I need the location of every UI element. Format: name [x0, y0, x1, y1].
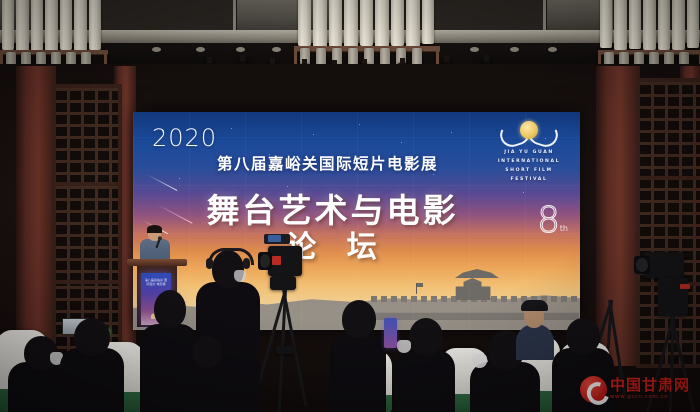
festival-logo-line2: INTERNATIONAL	[492, 159, 566, 164]
video-camera-tripod-center	[254, 238, 334, 412]
audience-head	[192, 336, 222, 368]
sun-icon	[520, 121, 538, 139]
chinese-lattice-panel	[52, 84, 122, 188]
ceiling-light-dot	[236, 47, 245, 52]
edition-suffix: th	[560, 224, 568, 233]
fortress-flag	[416, 283, 417, 294]
conference-hall-photo: 2020 第八届嘉峪关国际短片电影展 舞台艺术与电影 论 坛 JIA YU GU…	[0, 0, 700, 412]
face-mask	[397, 340, 411, 353]
floor-monitor-screen	[384, 318, 397, 348]
festival-logo-line3: SHORT FILM	[492, 168, 566, 173]
headphone-cup	[206, 258, 213, 269]
audience-member	[60, 318, 124, 412]
headphone-cup	[243, 258, 250, 269]
audience-head	[74, 318, 110, 356]
camera-indicator	[680, 284, 690, 289]
audience-head	[409, 318, 443, 356]
screen-year: 2020	[152, 124, 217, 152]
attendee-torso	[516, 324, 554, 360]
camera-lens	[634, 256, 650, 274]
camera-mount	[270, 276, 296, 290]
audience-head	[154, 290, 186, 328]
camera-body	[644, 252, 684, 278]
camera-lens	[258, 252, 272, 270]
ceiling-light-dot	[272, 47, 281, 52]
festival-logo-line4: FESTIVAL	[492, 177, 566, 182]
ceiling-light-dot	[510, 47, 519, 52]
ceiling-light-dot	[152, 47, 161, 52]
festival-logo: JIA YU GUAN INTERNATIONAL SHORT FILM FES…	[492, 120, 566, 182]
audience-member	[395, 318, 455, 412]
edition-number: 8	[537, 200, 560, 241]
ceiling-light-dot	[470, 47, 479, 52]
wall-column-left	[16, 66, 56, 366]
cap-icon	[521, 300, 548, 311]
chinese-lattice-panel	[52, 182, 122, 286]
camera-monitor	[268, 235, 281, 242]
audience-member	[180, 336, 236, 412]
watermark: 中国甘肃网 www.gscn.com.cn	[580, 374, 692, 404]
ceiling-light-dot	[196, 47, 205, 52]
chinese-lattice-panel	[636, 78, 700, 182]
ceiling-light-dot	[548, 47, 557, 52]
audience-torso	[60, 348, 124, 412]
festival-logo-line1: JIA YU GUAN	[492, 150, 566, 155]
audience-head	[566, 318, 600, 354]
standing-attendee-with-cap	[516, 300, 554, 360]
audience-head	[342, 300, 376, 338]
festival-logo-mark	[500, 120, 558, 146]
podium-led-text: 第八届嘉峪关 国际短片 电影展	[144, 278, 168, 286]
fortress-roof	[455, 269, 499, 278]
speaker-hair	[147, 225, 162, 233]
face-mask	[234, 270, 246, 282]
podium-top	[127, 259, 187, 266]
watermark-url: www.gscn.com.cn	[610, 395, 690, 401]
audience-member	[330, 300, 386, 412]
audience-torso	[330, 334, 386, 412]
watermark-logo-icon	[580, 376, 607, 403]
camera-indicator	[272, 256, 281, 265]
watermark-brand: 中国甘肃网	[610, 378, 690, 393]
tripod-spreader	[276, 346, 294, 354]
audience-torso	[180, 362, 236, 412]
face-mask	[472, 354, 487, 368]
audience-torso	[395, 350, 455, 412]
